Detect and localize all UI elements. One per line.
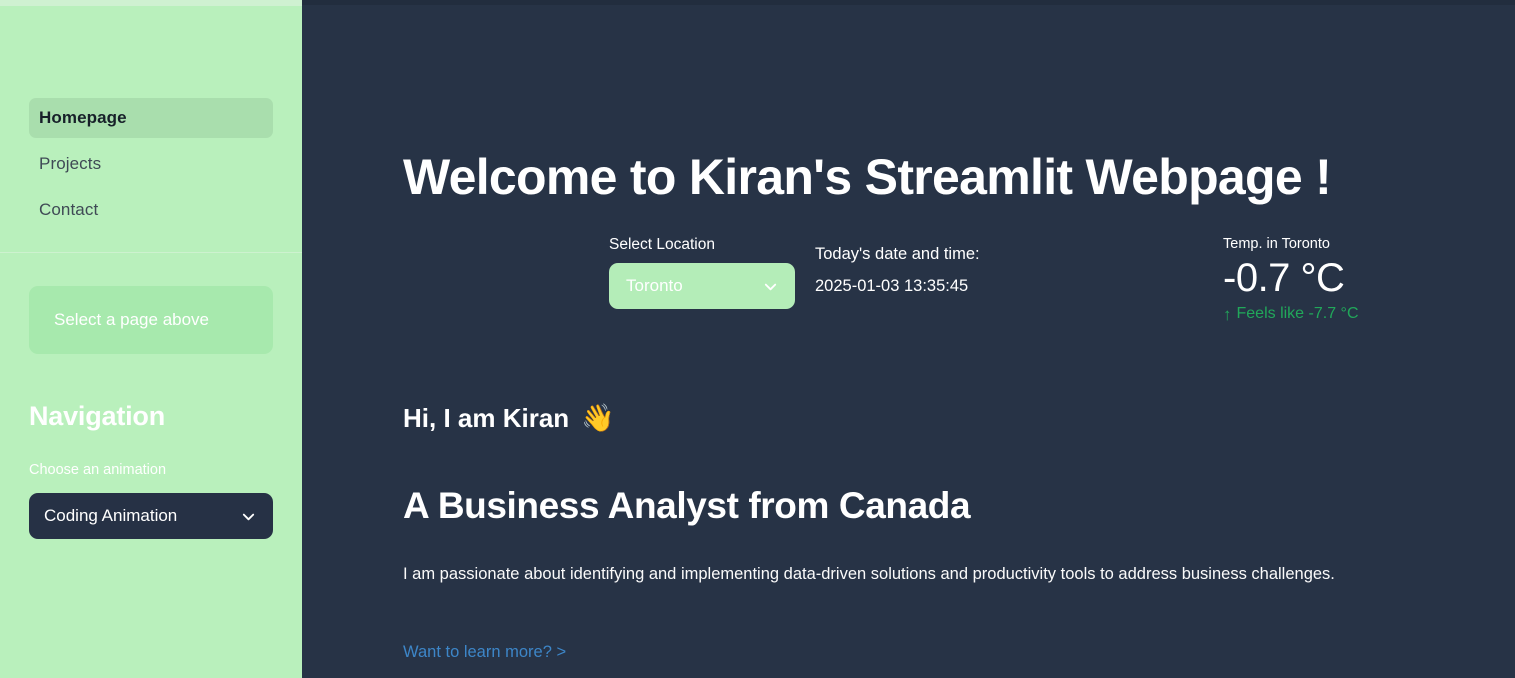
info-box-text: Select a page above — [54, 310, 209, 330]
metric-delta: ↑ Feels like -7.7 °C — [1223, 305, 1483, 323]
app-header-bar — [302, 0, 1515, 5]
main-content: Welcome to Kiran's Streamlit Webpage ! S… — [302, 0, 1515, 678]
metric-value: -0.7 °C — [1223, 254, 1483, 302]
intro-paragraph: I am passionate about identifying and im… — [403, 558, 1413, 590]
sidebar-nav: Homepage Projects Contact — [0, 98, 302, 230]
select-page-info-box: Select a page above — [29, 286, 273, 354]
sidebar-divider — [0, 252, 302, 253]
location-select-label: Select Location — [609, 236, 799, 254]
learn-more-link[interactable]: Want to learn more? > — [403, 643, 566, 662]
animation-select-label: Choose an animation — [29, 462, 166, 478]
datetime-text: Today's date and time: 2025-01-03 13:35:… — [815, 238, 995, 302]
location-select-value: Toronto — [626, 276, 683, 296]
widget-row: Select Location Toronto Today's date and… — [403, 236, 1515, 356]
animation-select[interactable]: Coding Animation — [29, 493, 273, 539]
sidebar-item-label: Homepage — [39, 108, 127, 128]
arrow-up-icon: ↑ — [1223, 306, 1232, 323]
animation-select-value: Coding Animation — [44, 506, 177, 526]
subtitle-heading: A Business Analyst from Canada — [403, 485, 970, 527]
metric-label: Temp. in Toronto — [1223, 236, 1483, 252]
location-widget: Select Location Toronto — [609, 236, 799, 309]
metric-delta-text: Feels like -7.7 °C — [1237, 305, 1359, 323]
sidebar-item-label: Projects — [39, 154, 101, 174]
greeting-heading: Hi, I am Kiran 👋 — [403, 402, 615, 434]
location-select[interactable]: Toronto — [609, 263, 795, 309]
sidebar: Homepage Projects Contact Select a page … — [0, 0, 302, 678]
sidebar-item-contact[interactable]: Contact — [29, 190, 273, 230]
waving-hand-icon: 👋 — [581, 402, 615, 434]
navigation-heading: Navigation — [29, 401, 165, 432]
chevron-down-icon — [763, 279, 778, 294]
sidebar-item-projects[interactable]: Projects — [29, 144, 273, 184]
sidebar-item-label: Contact — [39, 200, 98, 220]
sidebar-item-homepage[interactable]: Homepage — [29, 98, 273, 138]
chevron-down-icon — [241, 509, 256, 524]
datetime-widget: Today's date and time: 2025-01-03 13:35:… — [815, 238, 995, 302]
page-title: Welcome to Kiran's Streamlit Webpage ! — [403, 148, 1331, 206]
sidebar-top-strip — [0, 0, 302, 6]
temperature-metric: Temp. in Toronto -0.7 °C ↑ Feels like -7… — [1223, 236, 1483, 323]
greeting-text: Hi, I am Kiran — [403, 403, 569, 434]
